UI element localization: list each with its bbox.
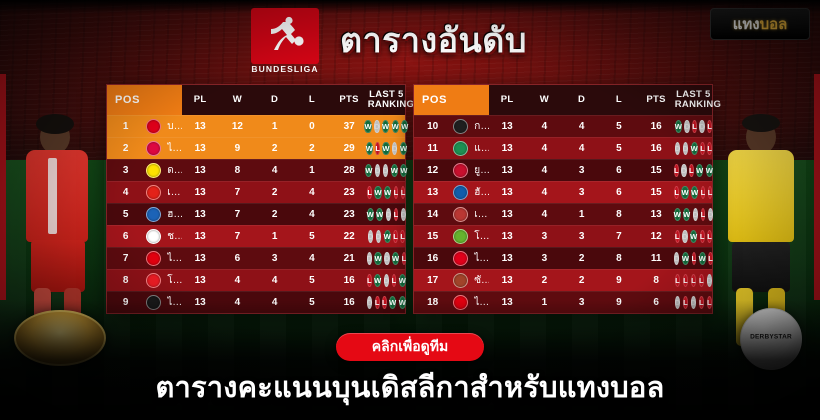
row-last5-form: DDWLL — [368, 225, 405, 247]
form-badge-l: L — [708, 252, 713, 265]
form-badge-l: L — [700, 142, 705, 155]
row-played: 13 — [489, 181, 526, 203]
rb-leipzig-crest — [146, 141, 161, 156]
row-team[interactable]: ไลป์ซิก — [144, 137, 181, 159]
column-header-l: L — [600, 85, 637, 115]
team-name: บาเยิร์น — [167, 119, 181, 134]
form-badge-d: D — [401, 208, 406, 221]
form-badge-l: L — [691, 274, 696, 287]
form-badge-l: L — [675, 230, 680, 243]
row-points: 8 — [638, 269, 675, 291]
row-draws: 4 — [563, 115, 600, 137]
row-played: 13 — [489, 159, 526, 181]
row-position: 5 — [107, 203, 144, 225]
form-badge-l: L — [692, 252, 697, 265]
form-badge-d: D — [693, 208, 698, 221]
team-name: โวล์ฟสบวร์ก — [474, 229, 488, 244]
row-draws: 4 — [563, 137, 600, 159]
table-row[interactable]: 13ฮัมบูร์เกอร์เอสเฟา1343615LWWLL — [414, 181, 712, 203]
row-last5-form: WWDLD — [675, 203, 712, 225]
form-badge-w: W — [382, 120, 389, 133]
row-last5-form: WWDLD — [368, 203, 405, 225]
form-badge-d: D — [384, 252, 389, 265]
form-badge-d: D — [708, 208, 713, 221]
form-badge-w: W — [400, 164, 407, 177]
row-wins: 9 — [219, 137, 256, 159]
table-row[interactable]: 3ดอร์ทมุนด์1384128WDDWW — [107, 159, 405, 181]
form-badge-d: D — [367, 252, 372, 265]
row-losses: 4 — [293, 203, 330, 225]
table-row[interactable]: 16ไฮเดนไฮม์1332811DWLWL — [414, 247, 712, 269]
row-draws: 1 — [256, 115, 293, 137]
vfb-stuttgart-crest — [146, 229, 161, 244]
form-badge-w: W — [374, 186, 381, 199]
hamburger-sv-crest — [453, 185, 468, 200]
column-header-pts: PTS — [638, 85, 675, 115]
row-last5-form: LWDLW — [368, 269, 405, 291]
row-losses: 4 — [293, 247, 330, 269]
row-losses: 1 — [293, 159, 330, 181]
table-row[interactable]: 8โคโลญจน์1344516LWDLW — [107, 269, 405, 291]
table-row[interactable]: 2ไลป์ซิก1392229WLWDW — [107, 137, 405, 159]
row-losses: 6 — [600, 181, 637, 203]
row-points: 15 — [638, 181, 675, 203]
row-points: 12 — [638, 225, 675, 247]
row-losses: 5 — [293, 225, 330, 247]
fc-koln-crest — [146, 273, 161, 288]
form-badge-d: D — [683, 142, 688, 155]
row-points: 13 — [638, 203, 675, 225]
bundesliga-logo — [251, 8, 319, 64]
row-team[interactable]: แวร์เดอร์เบรเมิน — [451, 137, 488, 159]
row-team[interactable]: ไอน์ทรัค แฟรงค์ — [144, 247, 181, 269]
form-badge-w: W — [682, 252, 689, 265]
row-position: 3 — [107, 159, 144, 181]
row-position: 13 — [414, 181, 451, 203]
form-badge-d: D — [699, 120, 704, 133]
row-losses: 5 — [600, 115, 637, 137]
column-header-l: L — [293, 85, 330, 115]
form-badge-w: W — [391, 164, 398, 177]
row-last5-form: WDLDL — [675, 115, 712, 137]
row-draws: 1 — [256, 225, 293, 247]
form-badge-l: L — [708, 186, 713, 199]
team-name: เลเวอร์คูเซ่น — [167, 185, 181, 200]
row-draws: 3 — [563, 225, 600, 247]
form-badge-w: W — [696, 164, 703, 177]
row-team[interactable]: ยูเนี่ยน เบอร์ลิน — [451, 159, 488, 181]
row-team[interactable]: ไฮเดนไฮม์ — [451, 247, 488, 269]
table-row[interactable]: 17ซังต์ เพาลี132298LLLLD — [414, 269, 712, 291]
row-wins: 7 — [219, 225, 256, 247]
footer-headline: ตารางคะแนนบุนเดิสลีกาสำหรับแทงบอล — [0, 368, 820, 408]
form-badge-l: L — [707, 142, 712, 155]
row-wins: 7 — [219, 181, 256, 203]
table-row[interactable]: 4เลเวอร์คูเซ่น1372423LWWLL — [107, 181, 405, 203]
row-losses: 9 — [600, 269, 637, 291]
form-badge-l: L — [401, 186, 406, 199]
row-wins: 8 — [219, 159, 256, 181]
team-name: เอาก์สบวร์ก — [474, 207, 488, 222]
bundesliga-wordmark: BUNDESLIGA — [240, 64, 330, 74]
form-badge-l: L — [402, 252, 407, 265]
row-position: 7 — [107, 247, 144, 269]
screenshot-root: DERBYSTAR BUNDESLIGA ตารางอันดับ แทงบอล … — [0, 0, 820, 420]
column-header-pos: POS — [414, 85, 489, 115]
row-wins: 3 — [526, 247, 563, 269]
form-badge-l: L — [367, 186, 372, 199]
row-team[interactable]: บาเยิร์น — [144, 115, 181, 137]
form-badge-w: W — [364, 120, 371, 133]
row-losses: 8 — [600, 203, 637, 225]
row-position: 15 — [414, 225, 451, 247]
form-badge-w: W — [392, 120, 399, 133]
form-badge-d: D — [682, 230, 687, 243]
row-wins: 3 — [526, 225, 563, 247]
row-position: 12 — [414, 159, 451, 181]
row-points: 16 — [638, 137, 675, 159]
row-played: 13 — [182, 115, 219, 137]
form-badge-d: D — [374, 120, 379, 133]
row-last5-form: WLWDW — [368, 137, 405, 159]
row-draws: 2 — [256, 203, 293, 225]
bayer-leverkusen-crest — [146, 185, 161, 200]
form-badge-l: L — [701, 186, 706, 199]
row-team[interactable]: เอาก์สบวร์ก — [451, 203, 488, 225]
row-last5-form: WDWWW — [368, 115, 405, 137]
row-team[interactable]: ฮัมบูร์เกอร์เอสเฟา — [451, 181, 488, 203]
column-header-pos: POS — [107, 85, 182, 115]
site-logo[interactable]: แทงบอล — [710, 8, 810, 40]
borussia-dortmund-crest — [146, 163, 161, 178]
row-draws: 4 — [256, 159, 293, 181]
team-name: ดอร์ทมุนด์ — [167, 163, 181, 178]
borussia-monchengladbach-crest — [453, 119, 468, 134]
form-badge-w: W — [690, 230, 697, 243]
standings-table-right: POS PL W D L PTS LAST 5 RANKING 10กลัดบั… — [413, 84, 713, 314]
team-name: ฮัมบูร์เกอร์เอสเฟา — [474, 185, 488, 200]
row-draws: 3 — [563, 159, 600, 181]
row-played: 13 — [489, 225, 526, 247]
form-badge-d: D — [675, 142, 680, 155]
site-logo-text-1: แทง — [733, 12, 760, 36]
row-points: 16 — [331, 269, 368, 291]
team-name: แวร์เดอร์เบรเมิน — [474, 141, 488, 156]
last5-line-2: RANKING — [368, 100, 405, 110]
row-position: 6 — [107, 225, 144, 247]
row-points: 22 — [331, 225, 368, 247]
team-name: กลัดบัค — [474, 119, 488, 134]
form-badge-w: W — [366, 142, 373, 155]
row-last5-form: LLLLD — [675, 269, 712, 291]
row-wins: 4 — [526, 115, 563, 137]
form-badge-w: W — [683, 208, 690, 221]
column-header-pts: PTS — [331, 85, 368, 115]
column-header-w: W — [219, 85, 256, 115]
row-team[interactable]: กลัดบัค — [451, 115, 488, 137]
form-badge-l: L — [707, 230, 712, 243]
form-badge-d: D — [386, 208, 391, 221]
form-badge-w: W — [384, 186, 391, 199]
form-badge-l: L — [674, 164, 679, 177]
form-badge-l: L — [683, 274, 688, 287]
row-draws: 3 — [256, 247, 293, 269]
row-losses: 5 — [293, 269, 330, 291]
form-badge-l: L — [393, 230, 398, 243]
row-last5-form: LDWLL — [675, 225, 712, 247]
form-badge-w: W — [699, 252, 706, 265]
table-body-right: 10กลัดบัค1344516WDLDL11แวร์เดอร์เบรเมิน1… — [414, 115, 712, 313]
form-badge-w: W — [681, 186, 688, 199]
form-badge-l: L — [367, 274, 372, 287]
form-badge-d: D — [392, 142, 397, 155]
page-title: ตารางอันดับ — [340, 18, 640, 64]
header-row: POS PL W D L PTS LAST 5 RANKING — [414, 85, 712, 115]
row-points: 23 — [331, 203, 368, 225]
form-badge-l: L — [392, 274, 397, 287]
team-name: โคโลญจน์ — [167, 273, 181, 288]
form-badge-d: D — [383, 164, 388, 177]
row-played: 13 — [182, 203, 219, 225]
row-wins: 4 — [526, 137, 563, 159]
form-badge-w: W — [382, 142, 389, 155]
form-badge-d: D — [384, 274, 389, 287]
team-name: ซังต์ เพาลี — [474, 273, 488, 288]
row-position: 11 — [414, 137, 451, 159]
form-badge-d: D — [376, 230, 381, 243]
row-position: 16 — [414, 247, 451, 269]
row-points: 16 — [638, 115, 675, 137]
form-badge-l: L — [394, 208, 399, 221]
row-played: 13 — [489, 137, 526, 159]
vfl-wolfsburg-crest — [453, 229, 468, 244]
form-badge-d: D — [368, 230, 373, 243]
row-wins: 4 — [526, 159, 563, 181]
form-badge-w: W — [376, 208, 383, 221]
row-played: 13 — [182, 225, 219, 247]
top-fade — [0, 0, 820, 14]
row-team[interactable]: ชตุทท์การ์ท — [144, 225, 181, 247]
form-badge-l: L — [699, 274, 704, 287]
left-red-edge — [0, 74, 6, 300]
standings-table-left: POS PL W D L PTS LAST 5 RANKING 1บาเยิร์… — [106, 84, 406, 314]
form-badge-l: L — [674, 186, 679, 199]
werder-bremen-crest — [453, 141, 468, 156]
form-badge-w: W — [399, 274, 406, 287]
form-badge-w: W — [401, 120, 408, 133]
row-played: 13 — [182, 247, 219, 269]
form-badge-d: D — [707, 274, 712, 287]
team-name: ฮอฟเฟ่นไฮม์ — [167, 207, 181, 222]
row-draws: 2 — [256, 181, 293, 203]
row-last5-form: LWWLL — [368, 181, 405, 203]
row-position: 14 — [414, 203, 451, 225]
row-wins: 7 — [219, 203, 256, 225]
form-badge-l: L — [675, 274, 680, 287]
right-red-edge — [814, 74, 820, 300]
row-losses: 2 — [293, 137, 330, 159]
row-position: 10 — [414, 115, 451, 137]
form-badge-w: W — [691, 186, 698, 199]
column-header-d: D — [563, 85, 600, 115]
row-played: 13 — [182, 159, 219, 181]
row-last5-form: WDDWW — [368, 159, 405, 181]
row-last5-form: LWWLL — [675, 181, 712, 203]
row-draws: 4 — [256, 269, 293, 291]
row-played: 13 — [182, 269, 219, 291]
form-badge-l: L — [692, 120, 697, 133]
team-name: ไฮเดนไฮม์ — [474, 251, 488, 266]
view-teams-button[interactable]: คลิกเพื่อดูทีม — [336, 333, 484, 361]
table-row[interactable]: 11แวร์เดอร์เบรเมิน1344516DDWLL — [414, 137, 712, 159]
heidenheim-crest — [453, 251, 468, 266]
table-row[interactable]: 10กลัดบัค1344516WDLDL — [414, 115, 712, 137]
last5-line-2: RANKING — [675, 100, 712, 110]
eintracht-frankfurt-crest — [146, 251, 161, 266]
table-header-left: POS PL W D L PTS LAST 5 RANKING — [107, 85, 405, 115]
table-row[interactable]: 7ไอน์ทรัค แฟรงค์1363421DWDWL — [107, 247, 405, 269]
row-team[interactable]: โวล์ฟสบวร์ก — [451, 225, 488, 247]
row-losses: 0 — [293, 115, 330, 137]
column-header-d: D — [256, 85, 293, 115]
form-badge-l: L — [701, 208, 706, 221]
row-played: 13 — [182, 181, 219, 203]
row-losses: 6 — [600, 159, 637, 181]
table-row[interactable]: 14เอาก์สบวร์ก1341813WWDLD — [414, 203, 712, 225]
form-badge-l: L — [394, 186, 399, 199]
row-wins: 4 — [526, 181, 563, 203]
form-badge-w: W — [706, 164, 713, 177]
row-points: 29 — [331, 137, 368, 159]
form-badge-l: L — [689, 164, 694, 177]
row-wins: 12 — [219, 115, 256, 137]
column-header-pl: PL — [182, 85, 219, 115]
form-badge-w: W — [367, 208, 374, 221]
standings-table-right-grid: POS PL W D L PTS LAST 5 RANKING 10กลัดบั… — [414, 85, 712, 313]
hoffenheim-crest — [146, 207, 161, 222]
row-draws: 3 — [563, 181, 600, 203]
row-draws: 2 — [563, 247, 600, 269]
team-name: ยูเนี่ยน เบอร์ลิน — [474, 163, 488, 178]
table-row[interactable]: 15โวล์ฟสบวร์ก1333712LDWLL — [414, 225, 712, 247]
form-badge-l: L — [707, 120, 712, 133]
row-last5-form: LDLWW — [675, 159, 712, 181]
form-badge-l: L — [700, 230, 705, 243]
team-name: ไลป์ซิก — [167, 141, 181, 156]
table-header-right: POS PL W D L PTS LAST 5 RANKING — [414, 85, 712, 115]
site-logo-text-2: บอล — [760, 12, 788, 36]
row-played: 13 — [489, 247, 526, 269]
row-team[interactable]: เลเวอร์คูเซ่น — [144, 181, 181, 203]
table-body-left: 1บาเยิร์น13121037WDWWW2ไลป์ซิก1392229WLW… — [107, 115, 405, 313]
row-draws: 1 — [563, 203, 600, 225]
row-team[interactable]: ดอร์ทมุนด์ — [144, 159, 181, 181]
row-wins: 4 — [526, 203, 563, 225]
row-wins: 2 — [526, 269, 563, 291]
fc-augsburg-crest — [453, 207, 468, 222]
column-header-w: W — [526, 85, 563, 115]
row-losses: 7 — [600, 225, 637, 247]
form-badge-w: W — [674, 208, 681, 221]
row-last5-form: DWLWL — [675, 247, 712, 269]
row-position: 2 — [107, 137, 144, 159]
form-badge-l: L — [400, 230, 405, 243]
row-losses: 8 — [600, 247, 637, 269]
row-position: 8 — [107, 269, 144, 291]
row-points: 28 — [331, 159, 368, 181]
row-draws: 2 — [256, 137, 293, 159]
row-wins: 4 — [219, 269, 256, 291]
form-badge-d: D — [375, 164, 380, 177]
row-team[interactable]: ซังต์ เพาลี — [451, 269, 488, 291]
table-row[interactable]: 5ฮอฟเฟ่นไฮม์1372423WWDLD — [107, 203, 405, 225]
form-badge-w: W — [400, 142, 407, 155]
row-last5-form: DDWLL — [675, 137, 712, 159]
row-points: 21 — [331, 247, 368, 269]
row-played: 13 — [489, 115, 526, 137]
team-name: ไอน์ทรัค แฟรงค์ — [167, 251, 181, 266]
form-badge-d: D — [674, 252, 679, 265]
bayern-munich-crest — [146, 119, 161, 134]
row-last5-form: DWDWL — [368, 247, 405, 269]
row-draws: 2 — [563, 269, 600, 291]
row-points: 15 — [638, 159, 675, 181]
table-row[interactable]: 12ยูเนี่ยน เบอร์ลิน1343615LDLWW — [414, 159, 712, 181]
form-badge-w: W — [365, 164, 372, 177]
form-badge-w: W — [374, 274, 381, 287]
column-header-last5: LAST 5 RANKING — [368, 85, 405, 115]
table-row[interactable]: 6ชตุทท์การ์ท1371522DDWLL — [107, 225, 405, 247]
row-played: 13 — [182, 137, 219, 159]
row-points: 23 — [331, 181, 368, 203]
row-wins: 6 — [219, 247, 256, 269]
form-badge-w: W — [374, 252, 381, 265]
st-pauli-crest — [453, 273, 468, 288]
row-points: 37 — [331, 115, 368, 137]
form-badge-l: L — [375, 142, 380, 155]
form-badge-d: D — [684, 120, 689, 133]
union-berlin-crest — [453, 163, 468, 178]
row-points: 11 — [638, 247, 675, 269]
header-row: POS PL W D L PTS LAST 5 RANKING — [107, 85, 405, 115]
form-badge-d: D — [681, 164, 686, 177]
form-badge-w: W — [691, 142, 698, 155]
table-row[interactable]: 1บาเยิร์น13121037WDWWW — [107, 115, 405, 137]
column-header-pl: PL — [489, 85, 526, 115]
row-team[interactable]: ฮอฟเฟ่นไฮม์ — [144, 203, 181, 225]
column-header-last5: LAST 5 RANKING — [675, 85, 712, 115]
form-badge-w: W — [392, 252, 399, 265]
team-name: ชตุทท์การ์ท — [167, 229, 181, 244]
row-played: 13 — [489, 269, 526, 291]
row-position: 1 — [107, 115, 144, 137]
standings-table-left-grid: POS PL W D L PTS LAST 5 RANKING 1บาเยิร์… — [107, 85, 405, 313]
form-badge-w: W — [384, 230, 391, 243]
form-badge-w: W — [675, 120, 682, 133]
row-team[interactable]: โคโลญจน์ — [144, 269, 181, 291]
row-played: 13 — [489, 203, 526, 225]
row-losses: 4 — [293, 181, 330, 203]
row-position: 17 — [414, 269, 451, 291]
row-position: 4 — [107, 181, 144, 203]
row-losses: 5 — [600, 137, 637, 159]
